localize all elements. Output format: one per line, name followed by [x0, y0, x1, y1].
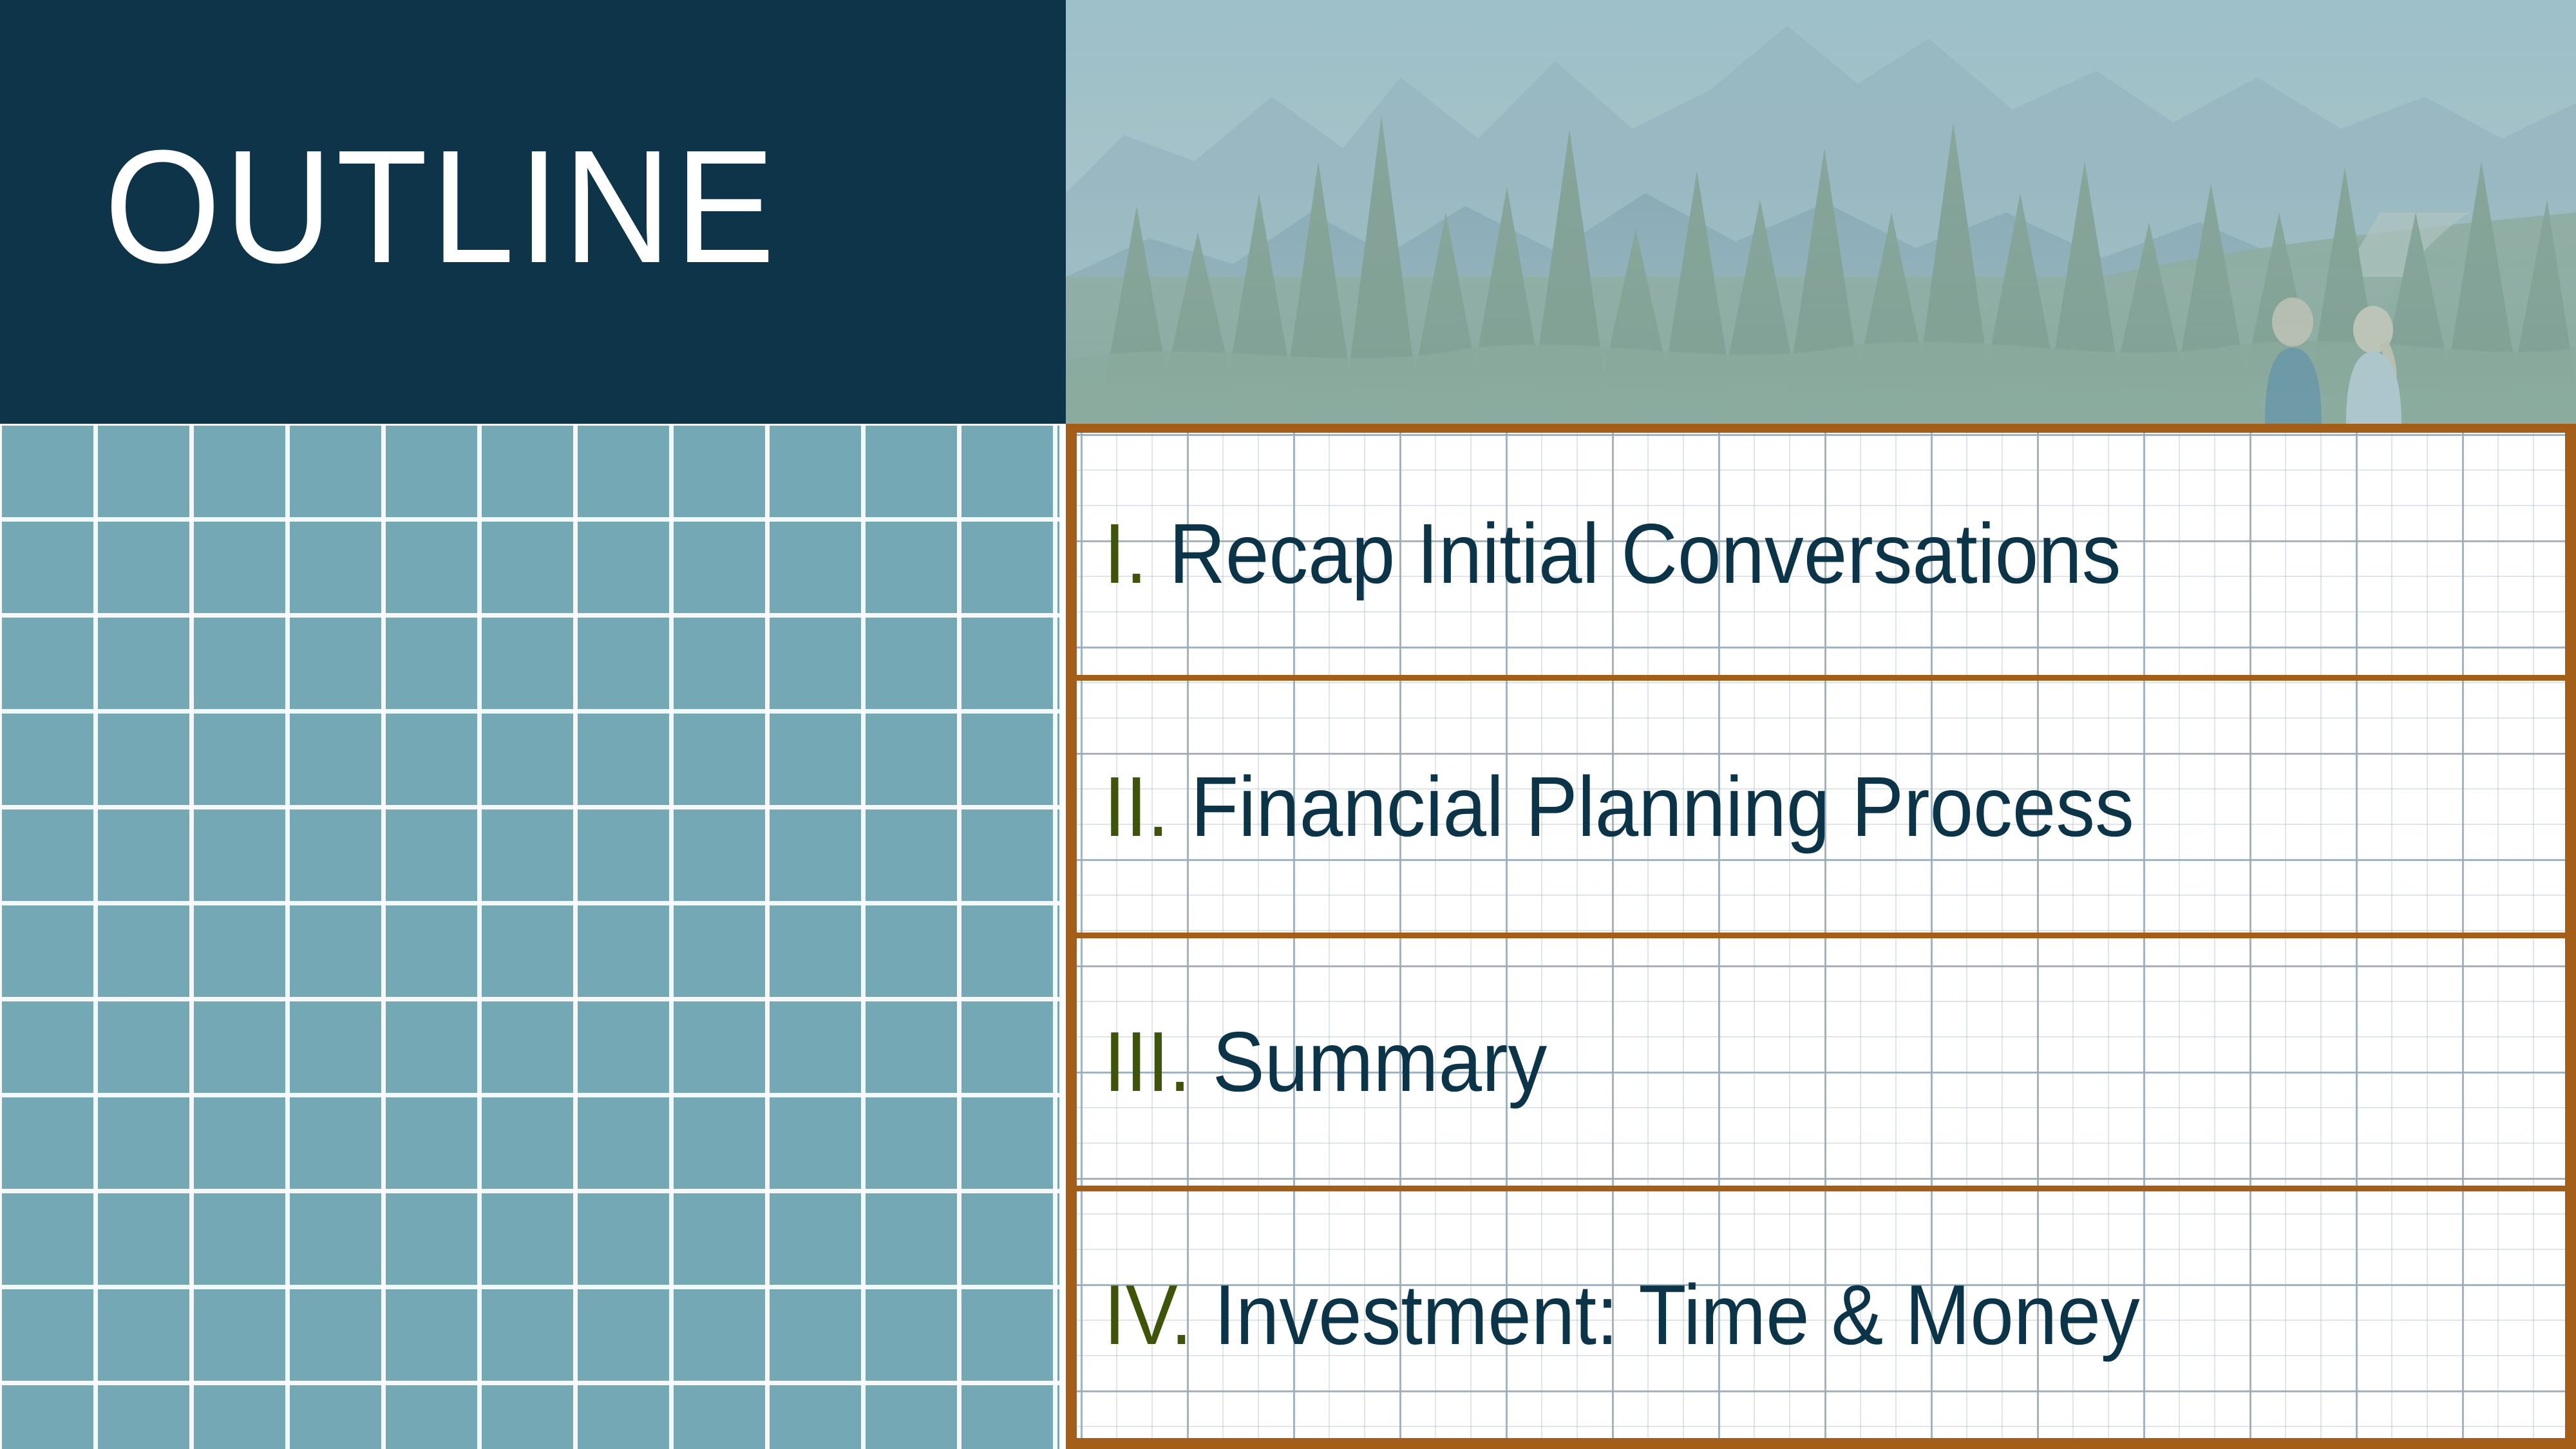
outline-item-2-line: II. Financial Planning Process — [1104, 762, 2134, 851]
forest-trail-illustration — [1066, 0, 2576, 424]
title-block: OUTLINE — [0, 0, 1066, 424]
outline-item-1-line: I. Recap Initial Conversations — [1104, 509, 2121, 598]
outline-item-3-label: Summary — [1213, 1014, 1548, 1109]
outline-item-2-label: Financial Planning Process — [1191, 759, 2134, 854]
outline-item-2-numeral: II. — [1104, 759, 1191, 854]
outline-item-3[interactable]: III. Summary — [1077, 938, 2565, 1191]
outline-list: I. Recap Initial Conversations II. Finan… — [1077, 433, 2565, 1438]
outline-item-4-numeral: IV. — [1104, 1267, 1214, 1362]
outline-item-2[interactable]: II. Financial Planning Process — [1077, 681, 2565, 938]
hero-photo — [1066, 0, 2576, 424]
outline-slide: OUTLINE — [0, 0, 2576, 1449]
outline-item-4[interactable]: IV. Investment: Time & Money — [1077, 1191, 2565, 1439]
outline-item-3-line: III. Summary — [1104, 1018, 1547, 1106]
teal-grid-panel — [0, 424, 1059, 1449]
outline-item-1[interactable]: I. Recap Initial Conversations — [1077, 433, 2565, 681]
outline-item-4-line: IV. Investment: Time & Money — [1104, 1271, 2140, 1359]
page-title: OUTLINE — [104, 126, 779, 287]
outline-item-1-numeral: I. — [1104, 506, 1169, 601]
outline-list-panel: I. Recap Initial Conversations II. Finan… — [1066, 424, 2576, 1449]
outline-item-4-label: Investment: Time & Money — [1214, 1267, 2140, 1362]
outline-item-1-label: Recap Initial Conversations — [1169, 506, 2121, 601]
outline-item-3-numeral: III. — [1104, 1014, 1213, 1109]
